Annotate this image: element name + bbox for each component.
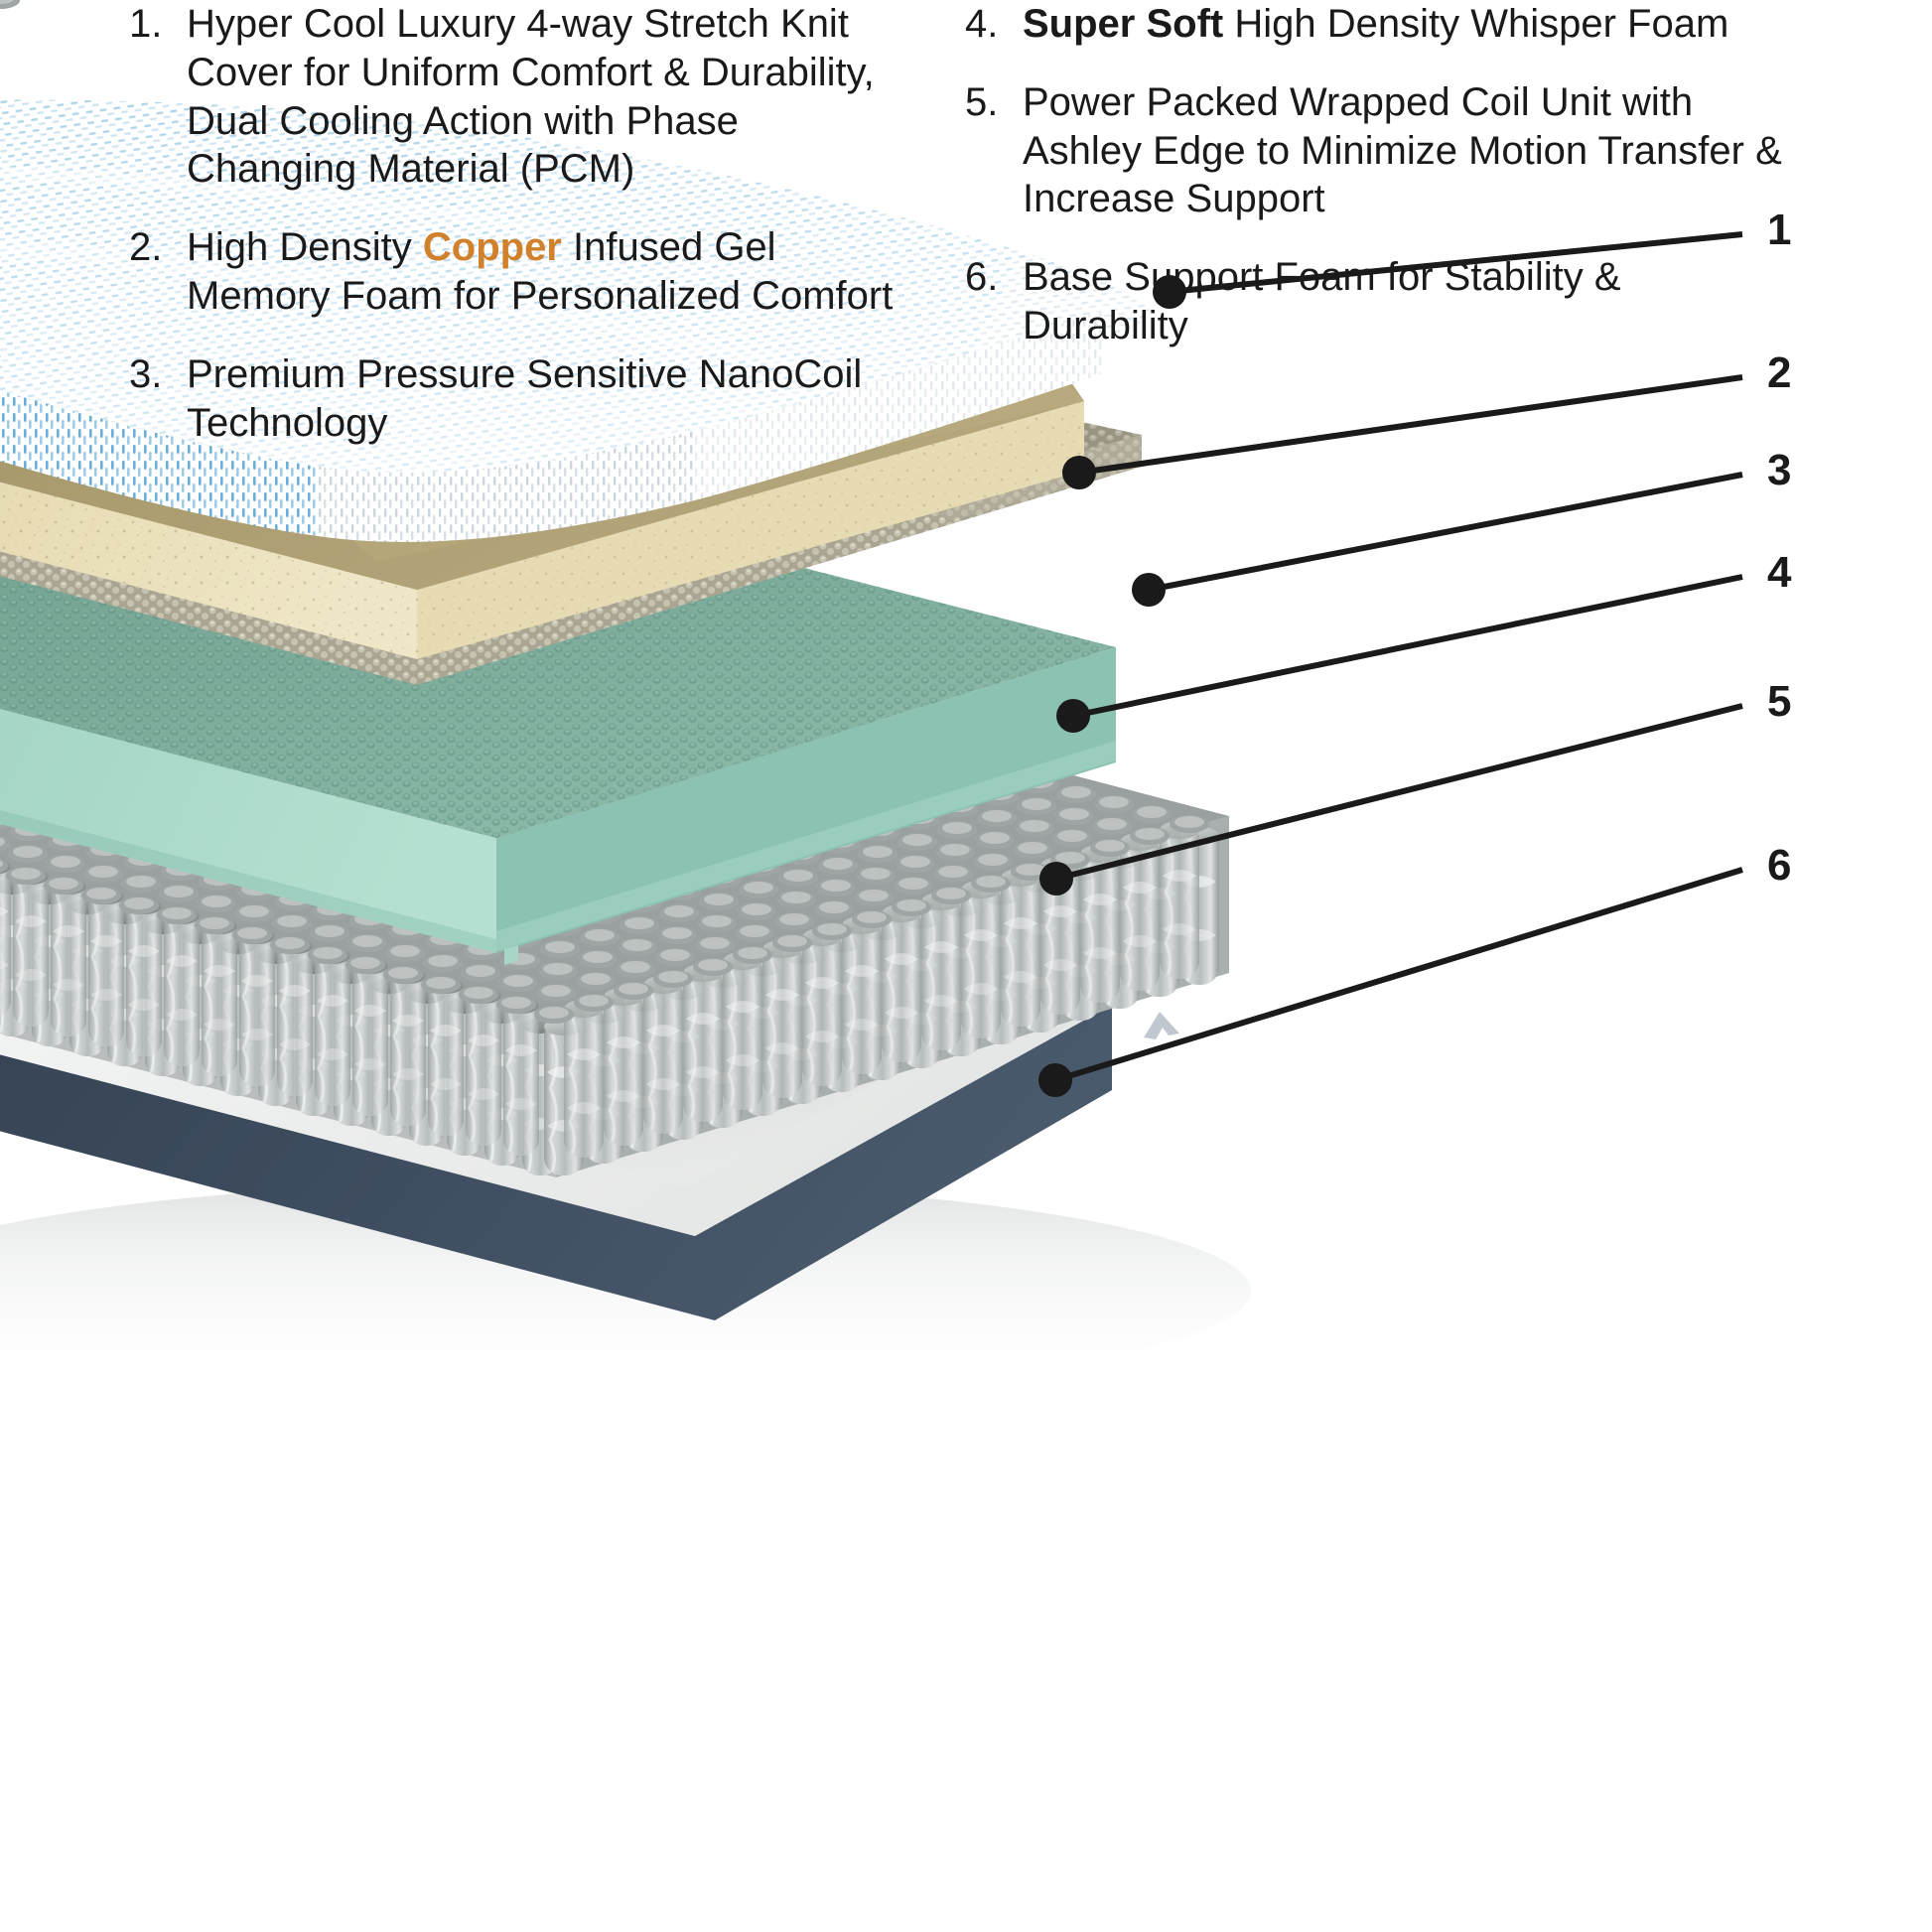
- legend-text-3: Premium Pressure Sensitive NanoCoil Tech…: [187, 350, 913, 448]
- callout-number-6: 6: [1767, 844, 1791, 888]
- legend-text-4-bold: Super Soft: [1023, 2, 1223, 46]
- legend-item-3: 3. Premium Pressure Sensitive NanoCoil T…: [129, 350, 913, 448]
- legend-text-1: Hyper Cool Luxury 4-way Stretch Knit Cov…: [187, 0, 913, 194]
- legend-item-1: 1. Hyper Cool Luxury 4-way Stretch Knit …: [129, 0, 913, 194]
- legend-number-5: 5.: [965, 78, 1023, 127]
- callout-number-5: 5: [1767, 680, 1791, 724]
- legend-column-left: 1. Hyper Cool Luxury 4-way Stretch Knit …: [129, 0, 913, 477]
- legend-number-1: 1.: [129, 0, 187, 49]
- legend-number-6: 6.: [965, 253, 1023, 302]
- legend-text-6: Base Support Foam for Stability & Durabi…: [1023, 253, 1789, 350]
- legend-text-4-rest: High Density Whisper Foam: [1223, 2, 1728, 46]
- legend-column-right: 4. Super Soft High Density Whisper Foam …: [965, 0, 1789, 380]
- legend-item-5: 5. Power Packed Wrapped Coil Unit with A…: [965, 78, 1789, 223]
- legend-text-2: High Density Copper Infused Gel Memory F…: [187, 223, 913, 321]
- legend-number-2: 2.: [129, 223, 187, 272]
- callout-number-4: 4: [1767, 551, 1791, 595]
- legend-item-4: 4. Super Soft High Density Whisper Foam: [965, 0, 1789, 49]
- legend-text-5: Power Packed Wrapped Coil Unit with Ashl…: [1023, 78, 1789, 223]
- legend-text-2-part-a: High Density: [187, 225, 423, 269]
- legend-text-2-copper: Copper: [423, 225, 562, 269]
- legend-number-4: 4.: [965, 0, 1023, 49]
- legend-text-4: Super Soft High Density Whisper Foam: [1023, 0, 1789, 49]
- diagram-root: 1 2 3 4 5 6 1. Hyper Cool Luxury 4-way S…: [0, 0, 1932, 1932]
- callout-number-3: 3: [1767, 449, 1791, 492]
- legend-item-6: 6. Base Support Foam for Stability & Dur…: [965, 253, 1789, 350]
- legend-number-3: 3.: [129, 350, 187, 399]
- legend-item-2: 2. High Density Copper Infused Gel Memor…: [129, 223, 913, 321]
